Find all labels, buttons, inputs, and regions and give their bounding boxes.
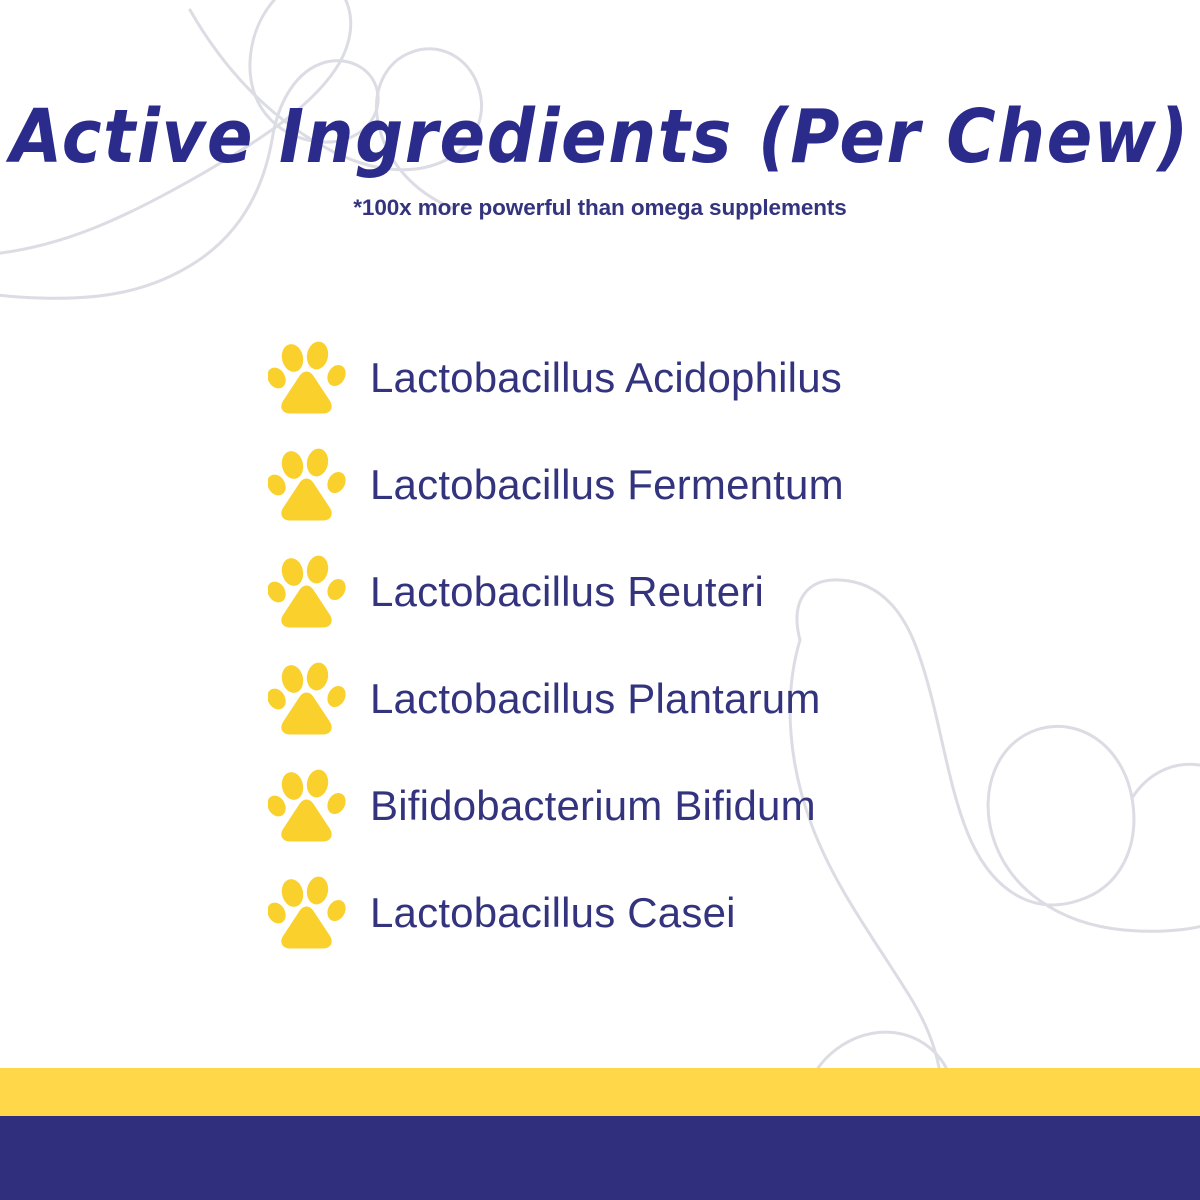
paw-print-icon — [268, 341, 350, 415]
list-item: Bifidobacterium Bifidum — [268, 765, 1148, 847]
list-item: Lactobacillus Reuteri — [268, 551, 1148, 633]
footer-accent-bar-yellow — [0, 1068, 1200, 1116]
list-item-label: Lactobacillus Casei — [370, 888, 736, 938]
list-item: Lactobacillus Casei — [268, 872, 1148, 954]
paw-print-icon — [268, 662, 350, 736]
list-item: Lactobacillus Acidophilus — [268, 337, 1148, 419]
list-item: Lactobacillus Plantarum — [268, 658, 1148, 740]
paw-print-icon — [268, 448, 350, 522]
list-item-label: Lactobacillus Acidophilus — [370, 353, 842, 403]
list-item-label: Lactobacillus Fermentum — [370, 460, 844, 510]
list-item-label: Lactobacillus Reuteri — [370, 567, 764, 617]
paw-print-icon — [268, 769, 350, 843]
poster-canvas: Active Ingredients (Per Chew) *100x more… — [0, 0, 1200, 1200]
ingredient-list: Lactobacillus Acidophilus Lactobacillus … — [268, 337, 1148, 954]
paw-print-icon — [268, 555, 350, 629]
paw-print-icon — [268, 876, 350, 950]
header: Active Ingredients (Per Chew) *100x more… — [0, 96, 1200, 222]
footer-bar-navy — [0, 1116, 1200, 1200]
list-item-label: Lactobacillus Plantarum — [370, 674, 821, 724]
page-title: Active Ingredients (Per Chew) — [0, 96, 1200, 179]
list-item-label: Bifidobacterium Bifidum — [370, 781, 816, 831]
list-item: Lactobacillus Fermentum — [268, 444, 1148, 526]
